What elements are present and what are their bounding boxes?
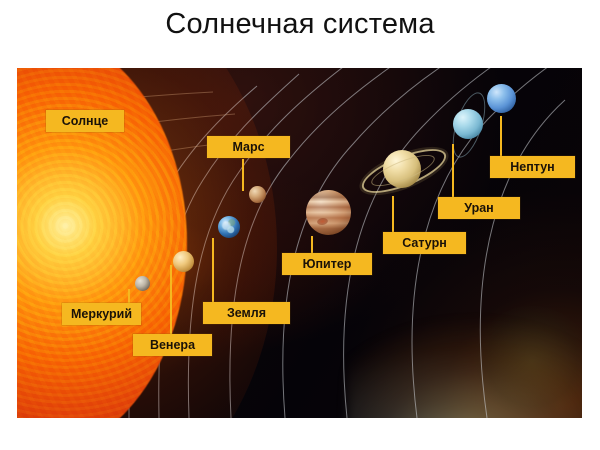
planet-mercury (135, 276, 150, 291)
label-neptune[interactable]: Нептун (490, 156, 575, 178)
leader-line-mars (242, 159, 244, 191)
leader-line-earth (212, 238, 214, 303)
leader-line-mercury (128, 289, 130, 304)
leader-line-neptune (500, 116, 502, 157)
planet-earth-clouds (218, 216, 240, 238)
label-mars[interactable]: Марс (207, 136, 290, 158)
label-saturn[interactable]: Сатурн (383, 232, 466, 254)
leader-line-venus (170, 265, 172, 335)
label-sun[interactable]: Солнце (46, 110, 124, 132)
leader-line-jupiter (311, 236, 313, 254)
label-uranus[interactable]: Уран (438, 197, 520, 219)
leader-line-saturn (392, 196, 394, 233)
page-title: Солнечная система (0, 8, 600, 41)
planet-jupiter (306, 190, 351, 235)
label-mercury[interactable]: Меркурий (62, 303, 141, 325)
planet-uranus (453, 109, 483, 139)
label-jupiter[interactable]: Юпитер (282, 253, 372, 275)
leader-line-uranus (452, 144, 454, 198)
slide: Солнечная система (0, 0, 600, 450)
planet-neptune (487, 84, 516, 113)
label-earth[interactable]: Земля (203, 302, 290, 324)
label-venus[interactable]: Венера (133, 334, 212, 356)
planet-venus (173, 251, 194, 272)
planet-mars (249, 186, 266, 203)
